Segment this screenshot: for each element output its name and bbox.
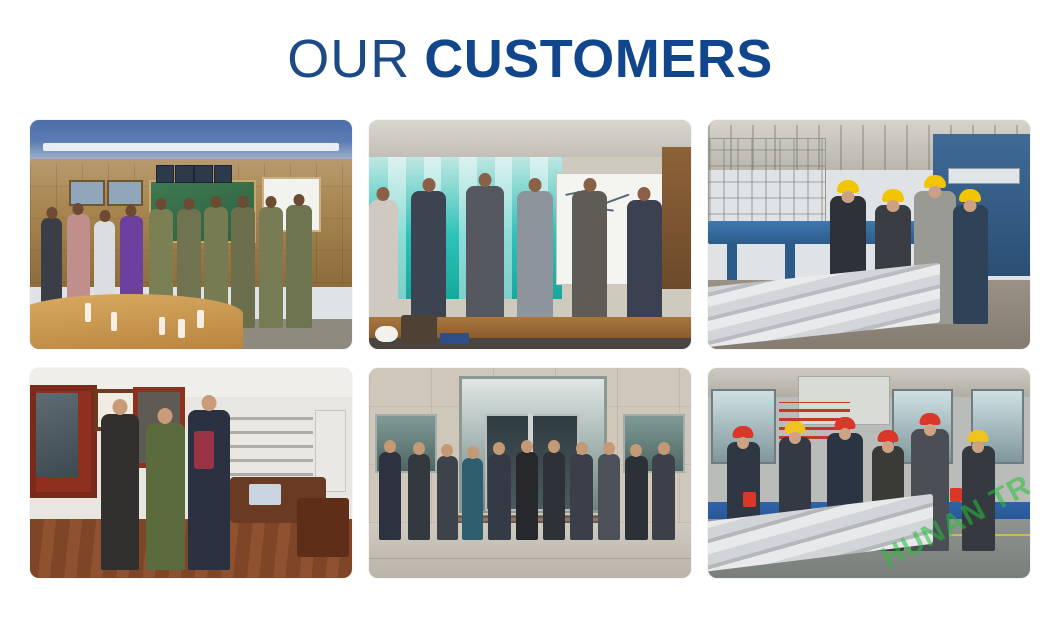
customer-photo-gallery: HUNAN TRA bbox=[30, 120, 1030, 578]
person-head bbox=[924, 424, 936, 436]
person-head bbox=[46, 207, 57, 219]
person-head bbox=[210, 196, 221, 208]
rosewood-chair bbox=[297, 498, 349, 557]
wall-monitor bbox=[156, 165, 175, 183]
person-head bbox=[113, 399, 128, 415]
photo-factory-inspection-yellow-helmets bbox=[708, 120, 1030, 349]
person-figure bbox=[369, 200, 398, 328]
person-head bbox=[737, 437, 749, 449]
water-bottle bbox=[159, 317, 165, 335]
person-figure bbox=[146, 423, 185, 570]
person-head bbox=[377, 187, 390, 201]
person-head bbox=[478, 173, 491, 187]
person-head bbox=[576, 442, 588, 455]
person-head bbox=[638, 187, 651, 201]
person-head bbox=[293, 194, 304, 206]
scarf bbox=[194, 431, 213, 469]
gallery-tile-6[interactable]: HUNAN TRA bbox=[708, 368, 1030, 578]
person-figure bbox=[652, 454, 675, 540]
page-title-bold: CUSTOMERS bbox=[424, 29, 773, 89]
person-head bbox=[972, 441, 984, 453]
sofa-cushion bbox=[249, 484, 281, 505]
red-rolled-item bbox=[743, 492, 756, 507]
person-figure-handshake-right bbox=[517, 191, 552, 328]
person-head bbox=[265, 196, 276, 208]
page-title-light: OUR bbox=[287, 29, 410, 89]
worker-figure bbox=[953, 205, 988, 324]
person-head bbox=[789, 432, 801, 444]
person-head bbox=[73, 203, 84, 215]
person-figure bbox=[101, 414, 140, 569]
person-head bbox=[201, 395, 216, 411]
water-bottle bbox=[85, 303, 91, 321]
photo-office-handshake-meeting bbox=[369, 120, 691, 349]
person-figure bbox=[408, 454, 431, 540]
photo-workshop-product-tour-red-helmets: HUNAN TRA bbox=[708, 368, 1030, 578]
workshop-window bbox=[708, 138, 826, 232]
person-figure bbox=[572, 191, 607, 328]
person-figure bbox=[625, 456, 648, 540]
person-head bbox=[384, 440, 396, 453]
water-bottle bbox=[178, 319, 184, 337]
wall-monitor bbox=[194, 165, 213, 183]
person-head bbox=[467, 446, 479, 459]
machine-warning-label bbox=[948, 168, 1021, 184]
person-head bbox=[842, 191, 855, 203]
person-head bbox=[441, 444, 453, 457]
handbag bbox=[401, 315, 436, 345]
water-bottle bbox=[111, 312, 117, 330]
person-head bbox=[548, 440, 560, 453]
framed-picture bbox=[69, 180, 105, 207]
person-head bbox=[603, 442, 615, 455]
wall-monitor bbox=[175, 165, 194, 183]
gallery-tile-1[interactable] bbox=[30, 120, 352, 349]
photo-reception-room-visitors bbox=[30, 368, 352, 578]
person-figure bbox=[516, 452, 539, 540]
person-head bbox=[964, 200, 977, 212]
person-figure bbox=[488, 454, 511, 540]
ceiling-band bbox=[30, 120, 352, 159]
gallery-tile-5[interactable] bbox=[369, 368, 691, 578]
wall-monitor bbox=[214, 165, 233, 183]
water-bottle bbox=[197, 310, 203, 328]
person-head bbox=[882, 441, 894, 453]
person-head bbox=[156, 198, 167, 210]
ceiling-light-strip bbox=[43, 143, 339, 151]
conveyor-leg bbox=[727, 244, 737, 281]
gallery-tile-3[interactable] bbox=[708, 120, 1030, 349]
person-head bbox=[929, 186, 942, 198]
person-figure bbox=[570, 454, 593, 540]
red-rolled-item bbox=[950, 488, 963, 503]
framed-picture bbox=[107, 180, 143, 207]
gallery-tile-4[interactable] bbox=[30, 368, 352, 578]
ceiling bbox=[369, 120, 691, 157]
person-head bbox=[183, 198, 194, 210]
person-figure bbox=[627, 200, 662, 328]
conveyor-leg bbox=[785, 244, 795, 281]
person-figure bbox=[543, 452, 566, 540]
person-head bbox=[521, 440, 533, 453]
visitor-figure bbox=[962, 446, 994, 551]
officer-figure bbox=[259, 207, 283, 328]
photo-delegation-building-entrance bbox=[369, 368, 691, 578]
gallery-tile-2[interactable] bbox=[369, 120, 691, 349]
person-head bbox=[528, 178, 541, 192]
person-head bbox=[583, 178, 596, 192]
person-head bbox=[839, 428, 851, 440]
officer-figure bbox=[286, 205, 312, 329]
person-head bbox=[99, 210, 110, 222]
person-head bbox=[413, 442, 425, 455]
photo-conference-room-delegation bbox=[30, 120, 352, 349]
coffee-cup bbox=[375, 326, 398, 342]
person-head bbox=[158, 408, 173, 424]
person-head bbox=[493, 442, 505, 455]
person-figure bbox=[411, 191, 446, 328]
person-head bbox=[126, 205, 137, 217]
wood-panel bbox=[662, 147, 691, 289]
page-title: OURCUSTOMERS bbox=[0, 0, 1060, 86]
person-figure-handshake-left bbox=[466, 186, 505, 328]
window-glass bbox=[36, 393, 78, 477]
meeting-table bbox=[30, 294, 243, 349]
person-head bbox=[630, 444, 642, 457]
person-figure bbox=[462, 458, 483, 540]
notebook bbox=[440, 333, 469, 344]
person-figure bbox=[598, 454, 621, 540]
person-head bbox=[887, 200, 900, 212]
person-head bbox=[238, 196, 249, 208]
person-figure bbox=[379, 452, 402, 540]
person-figure bbox=[437, 456, 458, 540]
person-head bbox=[658, 442, 670, 455]
paving-line bbox=[369, 558, 691, 559]
person-head bbox=[422, 178, 435, 192]
